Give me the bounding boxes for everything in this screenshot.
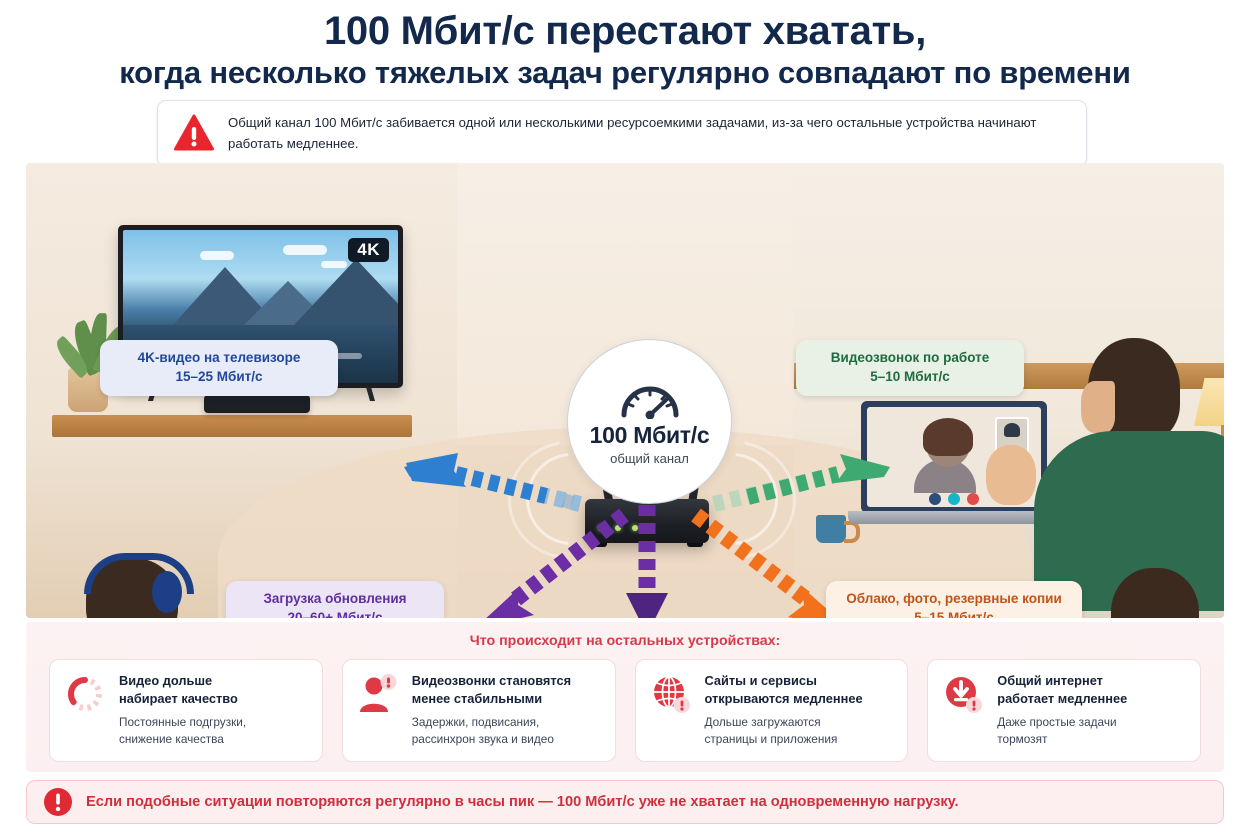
speed-hub: 100 Мбит/с общий канал xyxy=(567,339,732,504)
cloud-label-value: 5–15 Мбит/с xyxy=(842,608,1066,618)
consequence-card-websites: Сайты и сервисы открываются медленнее До… xyxy=(635,659,909,762)
card-title-line1: Видеозвонки становятся xyxy=(412,672,571,690)
consequence-card-videocall-text: Видеозвонки становятся менее стабильными… xyxy=(412,672,571,749)
arrow-to-download xyxy=(624,499,670,618)
card-desc-line1: Задержки, подвисания, xyxy=(412,714,571,731)
consequences-card-list: Видео дольше набирает качество Постоянны… xyxy=(26,649,1224,762)
update-label: Загрузка обновления 20–60+ Мбит/с xyxy=(226,581,444,618)
buffering-spinner-icon xyxy=(63,672,107,716)
self-view-head xyxy=(1004,423,1020,437)
gamer-headphone-cup xyxy=(152,571,182,613)
tv-console-table xyxy=(52,415,412,437)
card-title: Общий интернет работает медленнее xyxy=(997,672,1127,707)
consequence-card-websites-text: Сайты и сервисы открываются медленнее До… xyxy=(705,672,863,749)
tv-cloud xyxy=(283,245,327,255)
videocall-camera-icon[interactable] xyxy=(948,493,960,505)
card-desc-line1: Постоянные подгрузки, xyxy=(119,714,246,731)
tv-label-title: 4K-видео на телевизоре xyxy=(116,349,322,367)
videocall-hangup-icon[interactable] xyxy=(967,493,979,505)
tv-leg xyxy=(366,387,375,401)
speedometer-icon xyxy=(619,379,681,419)
card-desc-line2: страницы и приложения xyxy=(705,731,863,748)
consequence-card-video-text: Видео дольше набирает качество Постоянны… xyxy=(119,672,246,749)
call-label: Видеозвонок по работе 5–10 Мбит/с xyxy=(796,340,1024,396)
consequence-card-internet-text: Общий интернет работает медленнее Даже п… xyxy=(997,672,1127,749)
header: 100 Мбит/с перестают хватать, когда неск… xyxy=(0,0,1250,90)
infographic-page: 100 Мбит/с перестают хватать, когда неск… xyxy=(0,0,1250,833)
tv-cloud xyxy=(200,251,234,260)
consequence-card-video: Видео дольше набирает качество Постоянны… xyxy=(49,659,323,762)
footer-text: Если подобные ситуации повторяются регул… xyxy=(86,794,959,810)
videocall-person-hair xyxy=(923,418,973,456)
consequence-card-internet: Общий интернет работает медленнее Даже п… xyxy=(927,659,1201,762)
card-desc: Дольше загружаются страницы и приложения xyxy=(705,714,863,748)
tv-4k-badge: 4K xyxy=(348,238,389,262)
card-desc-line1: Дольше загружаются xyxy=(705,714,863,731)
tv-mountain xyxy=(294,259,399,325)
footer-banner: Если подобные ситуации повторяются регул… xyxy=(26,780,1224,824)
man-face xyxy=(1081,381,1115,433)
consequences-heading: Что происходит на остальных устройствах: xyxy=(26,622,1224,649)
man-waving-hand xyxy=(986,445,1036,505)
card-desc-line2: тормозят xyxy=(997,731,1127,748)
card-title-line1: Сайты и сервисы xyxy=(705,672,863,690)
card-desc: Задержки, подвисания, рассинхрон звука и… xyxy=(412,714,571,748)
card-desc-line2: рассинхрон звука и видео xyxy=(412,731,571,748)
person-alert-icon xyxy=(356,672,400,716)
videocall-info-icon[interactable] xyxy=(929,493,941,505)
call-label-value: 5–10 Мбит/с xyxy=(812,367,1008,387)
card-title-line2: набирает качество xyxy=(119,690,246,708)
arrow-to-gaming xyxy=(456,499,646,618)
tv-label: 4K-видео на телевизоре 15–25 Мбит/с xyxy=(100,340,338,396)
download-alert-icon xyxy=(941,672,985,716)
speed-hub-caption: общий канал xyxy=(610,451,689,466)
exclamation-circle-icon xyxy=(43,787,73,817)
card-title: Видео дольше набирает качество xyxy=(119,672,246,707)
card-title-line1: Видео дольше xyxy=(119,672,246,690)
update-label-value: 20–60+ Мбит/с xyxy=(242,608,428,618)
call-label-title: Видеозвонок по работе xyxy=(812,349,1008,367)
card-title: Видеозвонки становятся менее стабильными xyxy=(412,672,571,707)
card-desc-line2: снижение качества xyxy=(119,731,246,748)
top-alert-box: Общий канал 100 Мбит/с забивается одной … xyxy=(157,100,1087,167)
speed-hub-value: 100 Мбит/с xyxy=(590,422,710,449)
card-title-line2: открываются медленнее xyxy=(705,690,863,708)
page-title-line2: когда несколько тяжелых задач регулярно … xyxy=(0,56,1250,90)
card-title-line1: Общий интернет xyxy=(997,672,1127,690)
tv-label-value: 15–25 Мбит/с xyxy=(116,367,322,387)
consequences-section: Что происходит на остальных устройствах:… xyxy=(26,622,1224,772)
top-alert-text: Общий канал 100 Мбит/с забивается одной … xyxy=(228,112,1068,155)
cloud-label: Облако, фото, резервные копии 5–15 Мбит/… xyxy=(826,581,1082,618)
cloud-label-title: Облако, фото, резервные копии xyxy=(842,590,1066,608)
soundbar xyxy=(204,395,310,413)
warning-triangle-icon xyxy=(174,114,214,152)
card-title-line2: менее стабильными xyxy=(412,690,571,708)
card-desc-line1: Даже простые задачи xyxy=(997,714,1127,731)
card-desc: Даже простые задачи тормозят xyxy=(997,714,1127,748)
card-title: Сайты и сервисы открываются медленнее xyxy=(705,672,863,707)
card-title-line2: работает медленнее xyxy=(997,690,1127,708)
globe-alert-icon xyxy=(649,672,693,716)
card-desc: Постоянные подгрузки, снижение качества xyxy=(119,714,246,748)
illustration-scene: 4K Загрузка обновления... 45% 12,6 ГБ из… xyxy=(26,163,1224,618)
consequence-card-videocall: Видеозвонки становятся менее стабильными… xyxy=(342,659,616,762)
page-title-line1: 100 Мбит/с перестают хватать, xyxy=(0,10,1250,52)
update-label-title: Загрузка обновления xyxy=(242,590,428,608)
